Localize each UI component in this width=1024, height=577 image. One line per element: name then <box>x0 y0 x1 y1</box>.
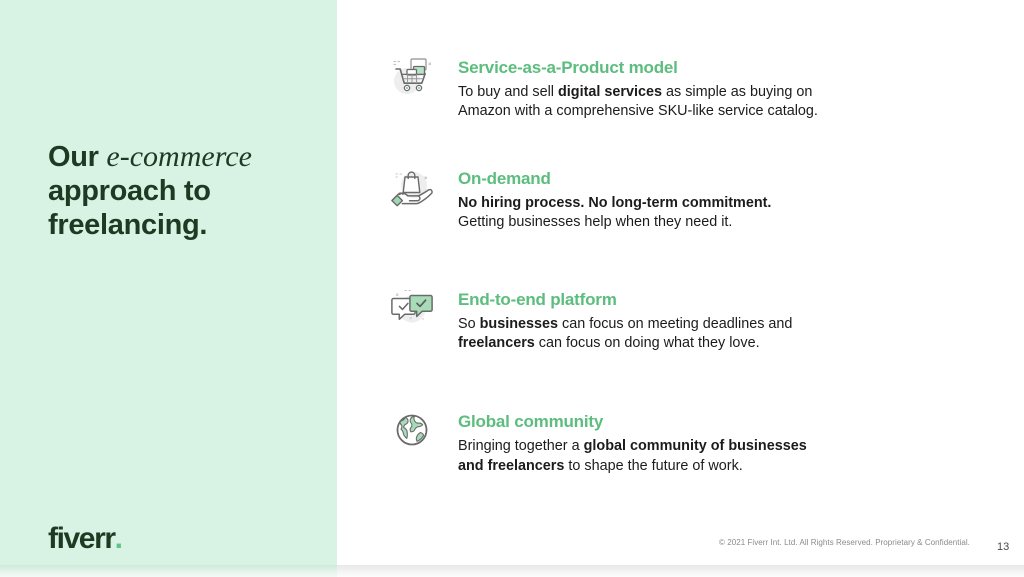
page-title: Our e-commerce approach to freelancing. <box>48 140 318 242</box>
list-item: Service-as-a-Product model To buy and se… <box>388 52 988 122</box>
page-title-italic-word: e-commerce <box>106 140 251 173</box>
shopping-cart-icon <box>388 52 436 100</box>
copyright-notice: © 2021 Fiverr Int. Ltd. All Rights Reser… <box>719 538 970 548</box>
fiverr-logo: fiverr. <box>48 524 123 554</box>
list-item-text: So businesses can focus on meeting deadl… <box>458 315 818 354</box>
page-title-bold-lead: Our <box>48 141 106 173</box>
page-title-line2: approach to <box>48 175 211 207</box>
list-item: On-demand No hiring process. No long-ter… <box>388 163 988 233</box>
list-item-text: To buy and sell digital services as simp… <box>458 83 818 122</box>
chat-bubbles-check-icon <box>388 284 436 332</box>
page-number: 13 <box>997 541 1009 553</box>
list-item-body: Service-as-a-Product model To buy and se… <box>458 52 818 122</box>
globe-icon <box>388 406 436 454</box>
feature-list: Service-as-a-Product model To buy and se… <box>388 52 988 476</box>
list-item: End-to-end platform So businesses can fo… <box>388 284 988 354</box>
hand-holding-bag-icon <box>388 163 436 211</box>
list-item: Global community Bringing together a glo… <box>388 406 988 476</box>
list-item-heading: Global community <box>458 412 818 432</box>
page-title-line3: freelancing. <box>48 209 207 241</box>
list-item-body: Global community Bringing together a glo… <box>458 406 818 476</box>
fiverr-logo-dot: . <box>115 522 123 555</box>
list-item-text: No hiring process. No long-term commitme… <box>458 194 814 233</box>
slide-bottom-shadow <box>337 565 1024 577</box>
fiverr-wordmark: fiverr <box>48 522 115 555</box>
panel-bottom-shadow <box>0 565 337 577</box>
left-title-panel <box>0 0 337 565</box>
list-item-heading: End-to-end platform <box>458 290 818 310</box>
list-item-body: End-to-end platform So businesses can fo… <box>458 284 818 354</box>
list-item-body: On-demand No hiring process. No long-ter… <box>458 163 814 233</box>
list-item-text: Bringing together a global community of … <box>458 437 818 476</box>
list-item-heading: On-demand <box>458 169 814 189</box>
list-item-heading: Service-as-a-Product model <box>458 58 818 78</box>
slide-canvas: Our e-commerce approach to freelancing. … <box>0 0 1024 577</box>
